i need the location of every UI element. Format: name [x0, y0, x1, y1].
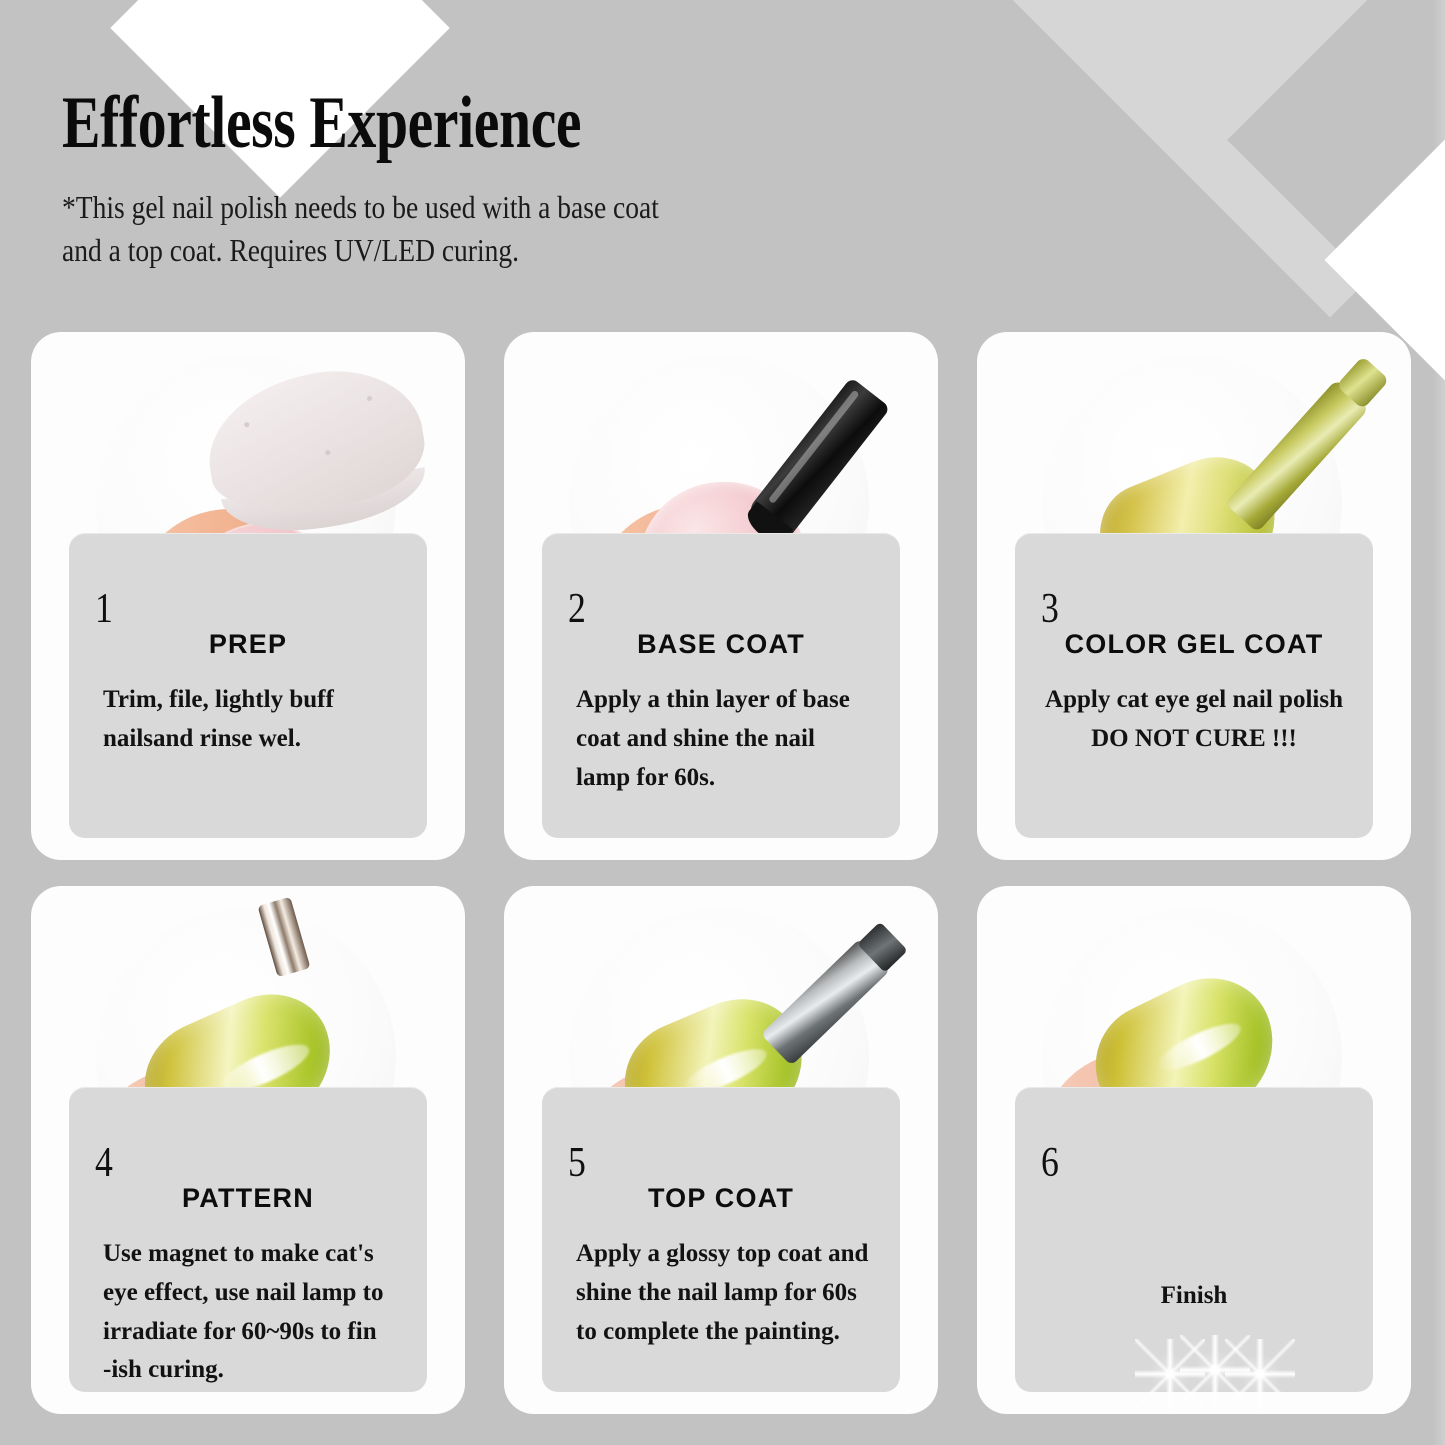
- brush-cap: [1336, 356, 1390, 410]
- step-title: BASE COAT: [542, 629, 900, 660]
- step-description: Use magnet to make cat's eye effect, use…: [103, 1235, 403, 1390]
- step-number: 4: [95, 1139, 113, 1187]
- brush-cap: [857, 922, 908, 973]
- step-panel-prep: 1 PREP Trim, file, lightly buff nailsand…: [69, 533, 427, 838]
- magnet-bar-top-icon: [257, 897, 310, 978]
- step-card-top-coat[interactable]: 5 TOP COAT Apply a glossy top coat and s…: [504, 886, 938, 1414]
- step-panel-base-coat: 2 BASE COAT Apply a thin layer of base c…: [542, 533, 900, 838]
- header: Effortless Experience *This gel nail pol…: [62, 86, 1112, 272]
- step-card-prep[interactable]: 1 PREP Trim, file, lightly buff nailsand…: [31, 332, 465, 860]
- step-description: Apply cat eye gel nail polish DO NOT CUR…: [1033, 681, 1355, 759]
- brush-shine: [768, 390, 860, 505]
- step-number: 1: [95, 585, 113, 633]
- step-panel-pattern: 4 PATTERN Use magnet to make cat's eye e…: [69, 1087, 427, 1392]
- step-card-base-coat[interactable]: 2 BASE COAT Apply a thin layer of base c…: [504, 332, 938, 860]
- black-polish-brush-icon: [745, 377, 890, 543]
- step-number: 5: [568, 1139, 586, 1187]
- step-title: PATTERN: [69, 1183, 427, 1214]
- step-number: 3: [1041, 585, 1059, 633]
- sparkle-icon: [1225, 1339, 1295, 1409]
- step-card-pattern[interactable]: 4 PATTERN Use magnet to make cat's eye e…: [31, 886, 465, 1414]
- step-description: Apply a thin layer of base coat and shin…: [576, 681, 876, 797]
- olive-gel-brush-icon: [1225, 378, 1370, 532]
- step-number: 2: [568, 585, 586, 633]
- step-description: Trim, file, lightly buff nailsand rinse …: [103, 681, 403, 759]
- step-panel-top-coat: 5 TOP COAT Apply a glossy top coat and s…: [542, 1087, 900, 1392]
- steps-grid: 1 PREP Trim, file, lightly buff nailsand…: [31, 332, 1414, 1414]
- step-title: TOP COAT: [542, 1183, 900, 1214]
- buffer-pad-icon: [198, 358, 432, 524]
- step-card-finish[interactable]: 6 Finish: [977, 886, 1411, 1414]
- edge-highlight-band: [1433, 0, 1445, 1445]
- page-title: Effortless Experience: [62, 86, 881, 160]
- step-title: PREP: [69, 629, 427, 660]
- step-description: Apply a glossy top coat and shine the na…: [576, 1235, 876, 1351]
- step-panel-color-gel-coat: 3 COLOR GEL COAT Apply cat eye gel nail …: [1015, 533, 1373, 838]
- step-panel-finish: 6 Finish: [1015, 1087, 1373, 1392]
- sparkle-group: [1135, 1335, 1295, 1405]
- step-title: COLOR GEL COAT: [1015, 629, 1373, 660]
- top-coat-brush-icon: [761, 938, 891, 1066]
- step-number: 6: [1041, 1139, 1059, 1187]
- step-description: Finish: [1015, 1277, 1373, 1316]
- step-card-color-gel-coat[interactable]: 3 COLOR GEL COAT Apply cat eye gel nail …: [977, 332, 1411, 860]
- page-subtitle: *This gel nail polish needs to be used w…: [62, 186, 965, 272]
